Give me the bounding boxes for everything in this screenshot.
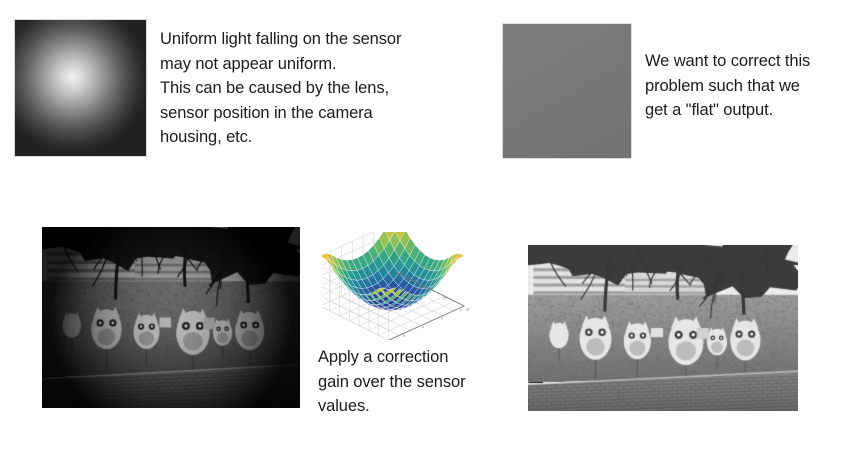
svg-text:2: 2 xyxy=(459,308,462,312)
park-owls-photo-uncorrected-canvas xyxy=(42,227,300,408)
correction-gain-surface-svg: 11.522.533.51086425101520 xyxy=(322,232,502,340)
park-owls-photo-corrected-canvas xyxy=(528,245,798,411)
flat-output-illustration-image xyxy=(503,24,631,158)
svg-text:15: 15 xyxy=(442,296,447,301)
svg-text:4: 4 xyxy=(440,316,443,320)
vignette-caption-text: Uniform light falling on the sensor may … xyxy=(160,27,480,150)
park-owls-photo-corrected xyxy=(528,245,798,411)
svg-text:8: 8 xyxy=(402,334,405,338)
correction-gain-caption-text: Apply a correction gain over the sensor … xyxy=(318,345,518,419)
park-owls-photo-uncorrected xyxy=(42,227,300,408)
svg-text:6: 6 xyxy=(421,325,424,329)
svg-text:20: 20 xyxy=(465,307,470,312)
slide-canvas: Uniform light falling on the sensor may … xyxy=(0,0,855,451)
flat-output-caption-text: We want to correct this problem such tha… xyxy=(645,49,855,123)
correction-gain-surface-plot: 11.522.533.51086425101520 xyxy=(322,232,502,340)
vignette-illustration-image xyxy=(15,20,146,156)
